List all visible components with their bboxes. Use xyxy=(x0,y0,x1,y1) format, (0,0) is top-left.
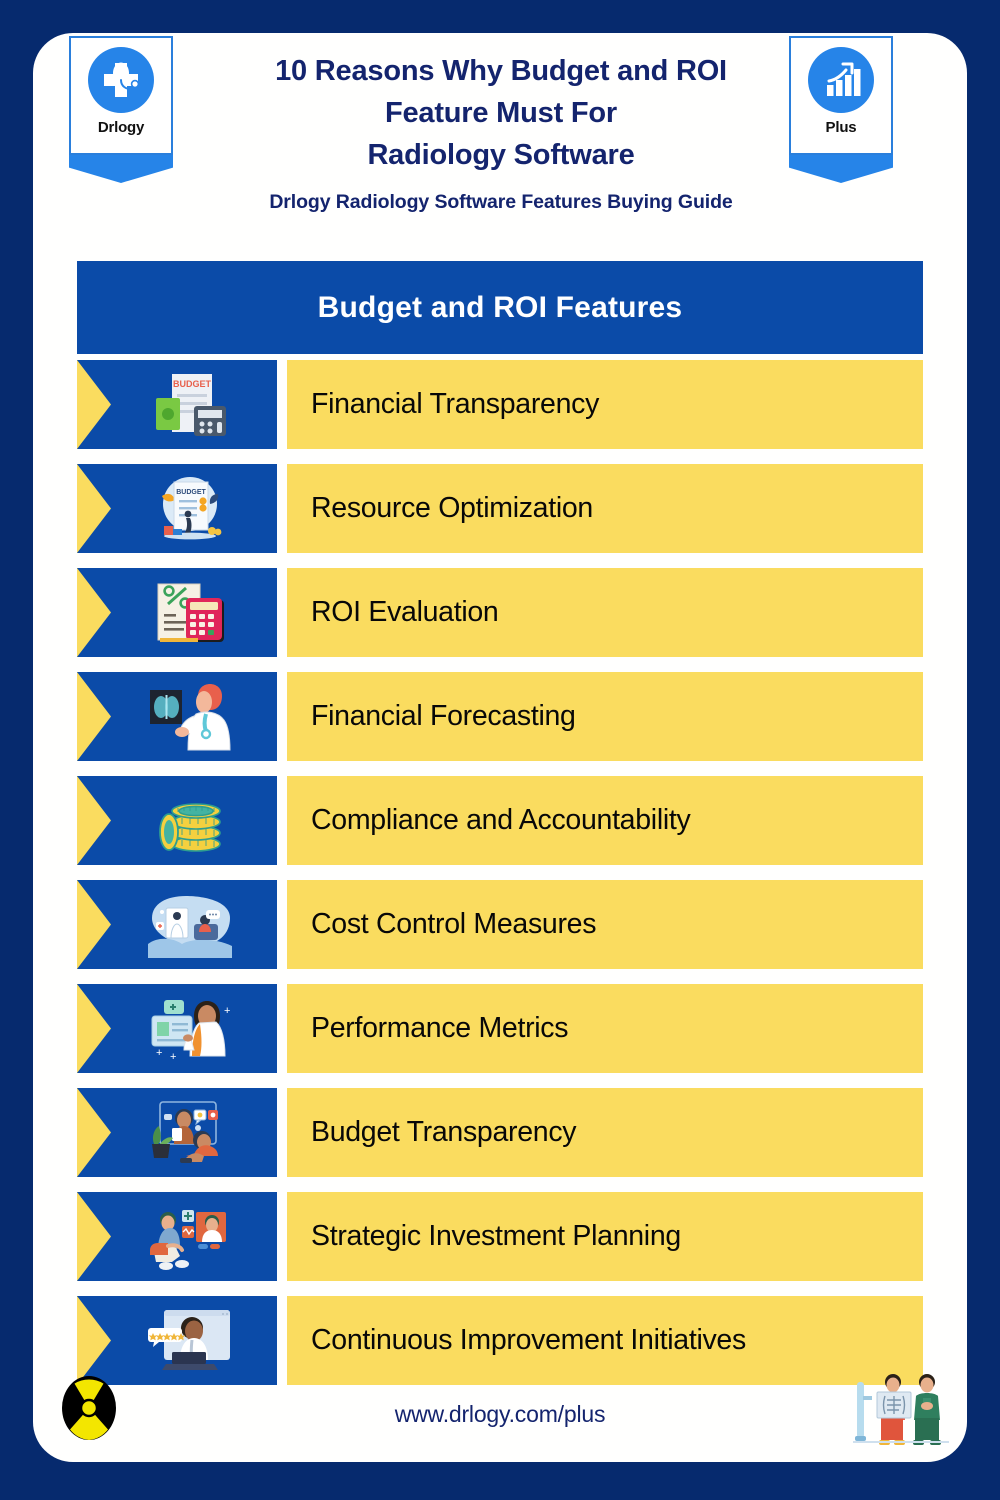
infographic-poster: Drlogy 10 Reasons Why Budget and ROI Fea… xyxy=(0,0,1000,1500)
feature-icon-cell xyxy=(77,776,277,865)
feature-label: Compliance and Accountability xyxy=(311,805,690,836)
features-list: BUDGET xyxy=(77,360,923,1385)
feature-label: Financial Transparency xyxy=(311,389,599,420)
svg-text:+: + xyxy=(170,1051,176,1063)
footer-url[interactable]: www.drlogy.com/plus xyxy=(33,1401,967,1428)
feature-icon-cell xyxy=(77,672,277,761)
feature-icon-cell xyxy=(77,1192,277,1281)
poster-title: 10 Reasons Why Budget and ROI Feature Mu… xyxy=(201,51,801,176)
drlogy-badge-label: Drlogy xyxy=(98,119,144,136)
drlogy-badge-box: Drlogy xyxy=(69,36,173,155)
medical-cross-stethoscope-icon xyxy=(88,47,154,113)
feature-row[interactable]: + + + Performance Metrics xyxy=(77,984,923,1073)
doctor-xray-review-icon xyxy=(134,680,246,754)
feature-row[interactable]: BUDGET xyxy=(77,360,923,449)
plus-badge-label: Plus xyxy=(826,119,857,136)
feature-label: Resource Optimization xyxy=(311,493,593,524)
feature-row[interactable]: Strategic Investment Planning xyxy=(77,1192,923,1281)
svg-text:BUDGET: BUDGET xyxy=(173,379,212,389)
svg-text:+: + xyxy=(224,1005,230,1017)
doctor-medical-record-icon: + + + xyxy=(134,992,246,1066)
doctor-laptop-five-star-rating-icon xyxy=(134,1304,246,1378)
title-line-2: Feature Must For xyxy=(201,93,801,135)
feature-label-cell: Strategic Investment Planning xyxy=(287,1192,923,1281)
feature-icon-cell xyxy=(77,1088,277,1177)
growth-bar-chart-arrow-icon xyxy=(808,47,874,113)
poster-subtitle: Drlogy Radiology Software Features Buyin… xyxy=(133,191,869,214)
percent-document-calculator-icon xyxy=(134,576,246,650)
drlogy-brand-badge: Drlogy xyxy=(69,36,173,183)
feature-label-cell: Resource Optimization xyxy=(287,464,923,553)
feature-label: Strategic Investment Planning xyxy=(311,1221,681,1252)
telemedicine-consultation-icon xyxy=(134,888,246,962)
plus-brand-badge: Plus xyxy=(789,36,893,183)
feature-row[interactable]: BUDGET xyxy=(77,464,923,553)
feature-icon-cell: + + + xyxy=(77,984,277,1073)
radiation-hazard-icon xyxy=(61,1375,117,1441)
feature-icon-cell xyxy=(77,568,277,657)
features-table-heading-text: Budget and ROI Features xyxy=(318,291,683,325)
feature-row[interactable]: Financial Forecasting xyxy=(77,672,923,761)
plus-badge-box: Plus xyxy=(789,36,893,155)
feature-icon-cell xyxy=(77,880,277,969)
radiology-patient-technician-icon xyxy=(847,1372,953,1448)
budget-document-money-calculator-icon: BUDGET xyxy=(134,368,246,442)
patient-video-consultation-icon xyxy=(134,1200,246,1274)
feature-row[interactable]: Cost Control Measures xyxy=(77,880,923,969)
poster-card: Drlogy 10 Reasons Why Budget and ROI Fea… xyxy=(33,33,967,1462)
feature-label-cell: Budget Transparency xyxy=(287,1088,923,1177)
feature-label: Performance Metrics xyxy=(311,1013,568,1044)
title-line-1: 10 Reasons Why Budget and ROI xyxy=(201,51,801,93)
feature-label: Financial Forecasting xyxy=(311,701,576,732)
feature-label-cell: Compliance and Accountability xyxy=(287,776,923,865)
feature-icon-cell: BUDGET xyxy=(77,360,277,449)
feature-label: Continuous Improvement Initiatives xyxy=(311,1325,746,1356)
feature-label: Cost Control Measures xyxy=(311,909,596,940)
feature-icon-cell: BUDGET xyxy=(77,464,277,553)
poster-header: Drlogy 10 Reasons Why Budget and ROI Fea… xyxy=(33,33,967,261)
feature-row[interactable]: ROI Evaluation xyxy=(77,568,923,657)
title-line-3: Radiology Software xyxy=(201,135,801,177)
feature-label: ROI Evaluation xyxy=(311,597,498,628)
drlogy-badge-chevron xyxy=(69,155,173,183)
feature-row[interactable]: Budget Transparency xyxy=(77,1088,923,1177)
feature-label-cell: Performance Metrics xyxy=(287,984,923,1073)
feature-label-cell: Cost Control Measures xyxy=(287,880,923,969)
svg-text:+: + xyxy=(156,1047,162,1059)
gold-coin-stack-icon xyxy=(134,784,246,858)
svg-text:BUDGET: BUDGET xyxy=(176,489,206,496)
feature-label: Budget Transparency xyxy=(311,1117,576,1148)
features-table-heading: Budget and ROI Features xyxy=(77,261,923,354)
feature-label-cell: Financial Transparency xyxy=(287,360,923,449)
plus-badge-chevron xyxy=(789,155,893,183)
poster-footer: www.drlogy.com/plus xyxy=(33,1367,967,1462)
budget-clipboard-checklist-icon: BUDGET xyxy=(134,472,246,546)
feature-label-cell: ROI Evaluation xyxy=(287,568,923,657)
video-chat-discussion-icon xyxy=(134,1096,246,1170)
feature-row[interactable]: Compliance and Accountability xyxy=(77,776,923,865)
feature-label-cell: Financial Forecasting xyxy=(287,672,923,761)
